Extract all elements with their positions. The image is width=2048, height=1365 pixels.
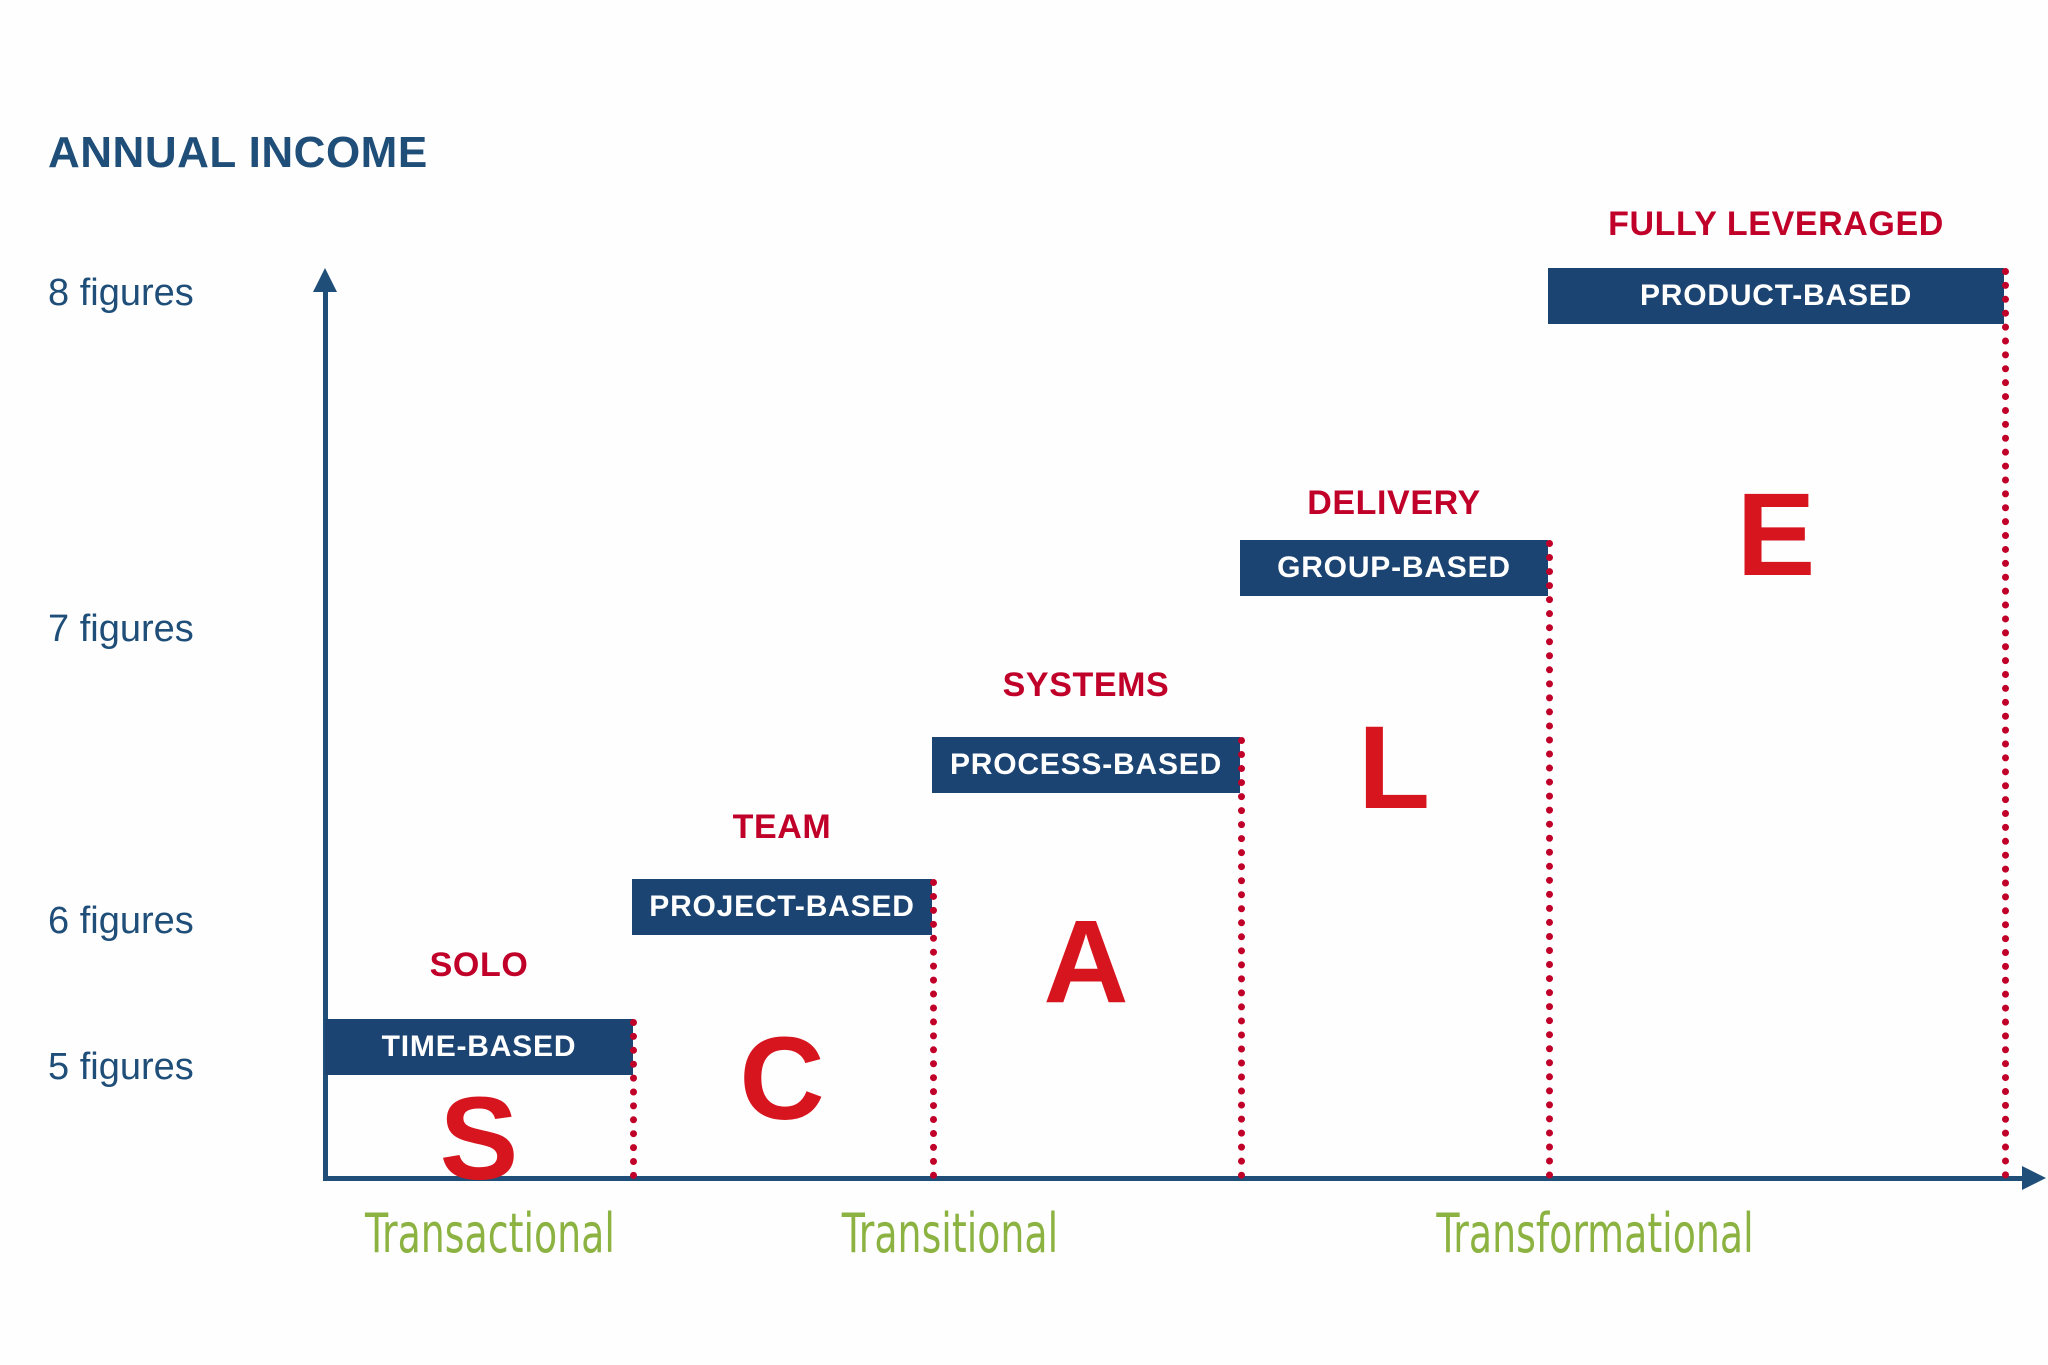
step-bar-label-project-based: PROJECT-BASED [649, 890, 914, 924]
y-tick-6-figures: 6 figures [48, 900, 306, 943]
step-bar-label-process-based: PROCESS-BASED [950, 748, 1222, 782]
step-bar-time-based: TIME-BASED [325, 1019, 633, 1075]
step-letter-e: E [1548, 476, 2004, 594]
step-letter-c: C [632, 1020, 932, 1138]
step-caption-solo: SOLO [325, 946, 633, 985]
step-letter-a: A [932, 903, 1240, 1021]
step-bar-label-product-based: PRODUCT-BASED [1640, 279, 1912, 313]
step-caption-team: TEAM [632, 808, 932, 847]
step-caption-fully-leveraged: FULLY LEVERAGED [1548, 205, 2004, 244]
chart-canvas: ANNUAL INCOME 8 figures 7 figures 6 figu… [0, 0, 2048, 1365]
phase-label-transformational: Transformational [1310, 1202, 1879, 1265]
step-bar-process-based: PROCESS-BASED [932, 737, 1240, 793]
step-bar-label-time-based: TIME-BASED [382, 1030, 577, 1064]
step-letter-l: L [1240, 709, 1548, 827]
step-bar-group-based: GROUP-BASED [1240, 540, 1548, 596]
phase-label-transitional: Transitional [747, 1202, 1153, 1265]
phase-label-transactional: Transactional [256, 1202, 724, 1265]
y-axis-arrow-icon [313, 268, 337, 292]
step-bar-product-based: PRODUCT-BASED [1548, 268, 2004, 324]
step-letter-s: S [325, 1080, 633, 1198]
y-tick-7-figures: 7 figures [48, 608, 306, 651]
y-tick-8-figures: 8 figures [48, 272, 306, 315]
step-caption-systems: SYSTEMS [932, 666, 1240, 705]
step-bar-label-group-based: GROUP-BASED [1277, 551, 1511, 585]
riser-line-4 [1546, 540, 1553, 1179]
page-title: ANNUAL INCOME [48, 128, 428, 178]
step-bar-project-based: PROJECT-BASED [632, 879, 932, 935]
x-axis-arrow-icon [2022, 1166, 2046, 1190]
y-tick-5-figures: 5 figures [48, 1046, 306, 1089]
riser-line-5 [2002, 268, 2009, 1179]
step-caption-delivery: DELIVERY [1240, 484, 1548, 523]
